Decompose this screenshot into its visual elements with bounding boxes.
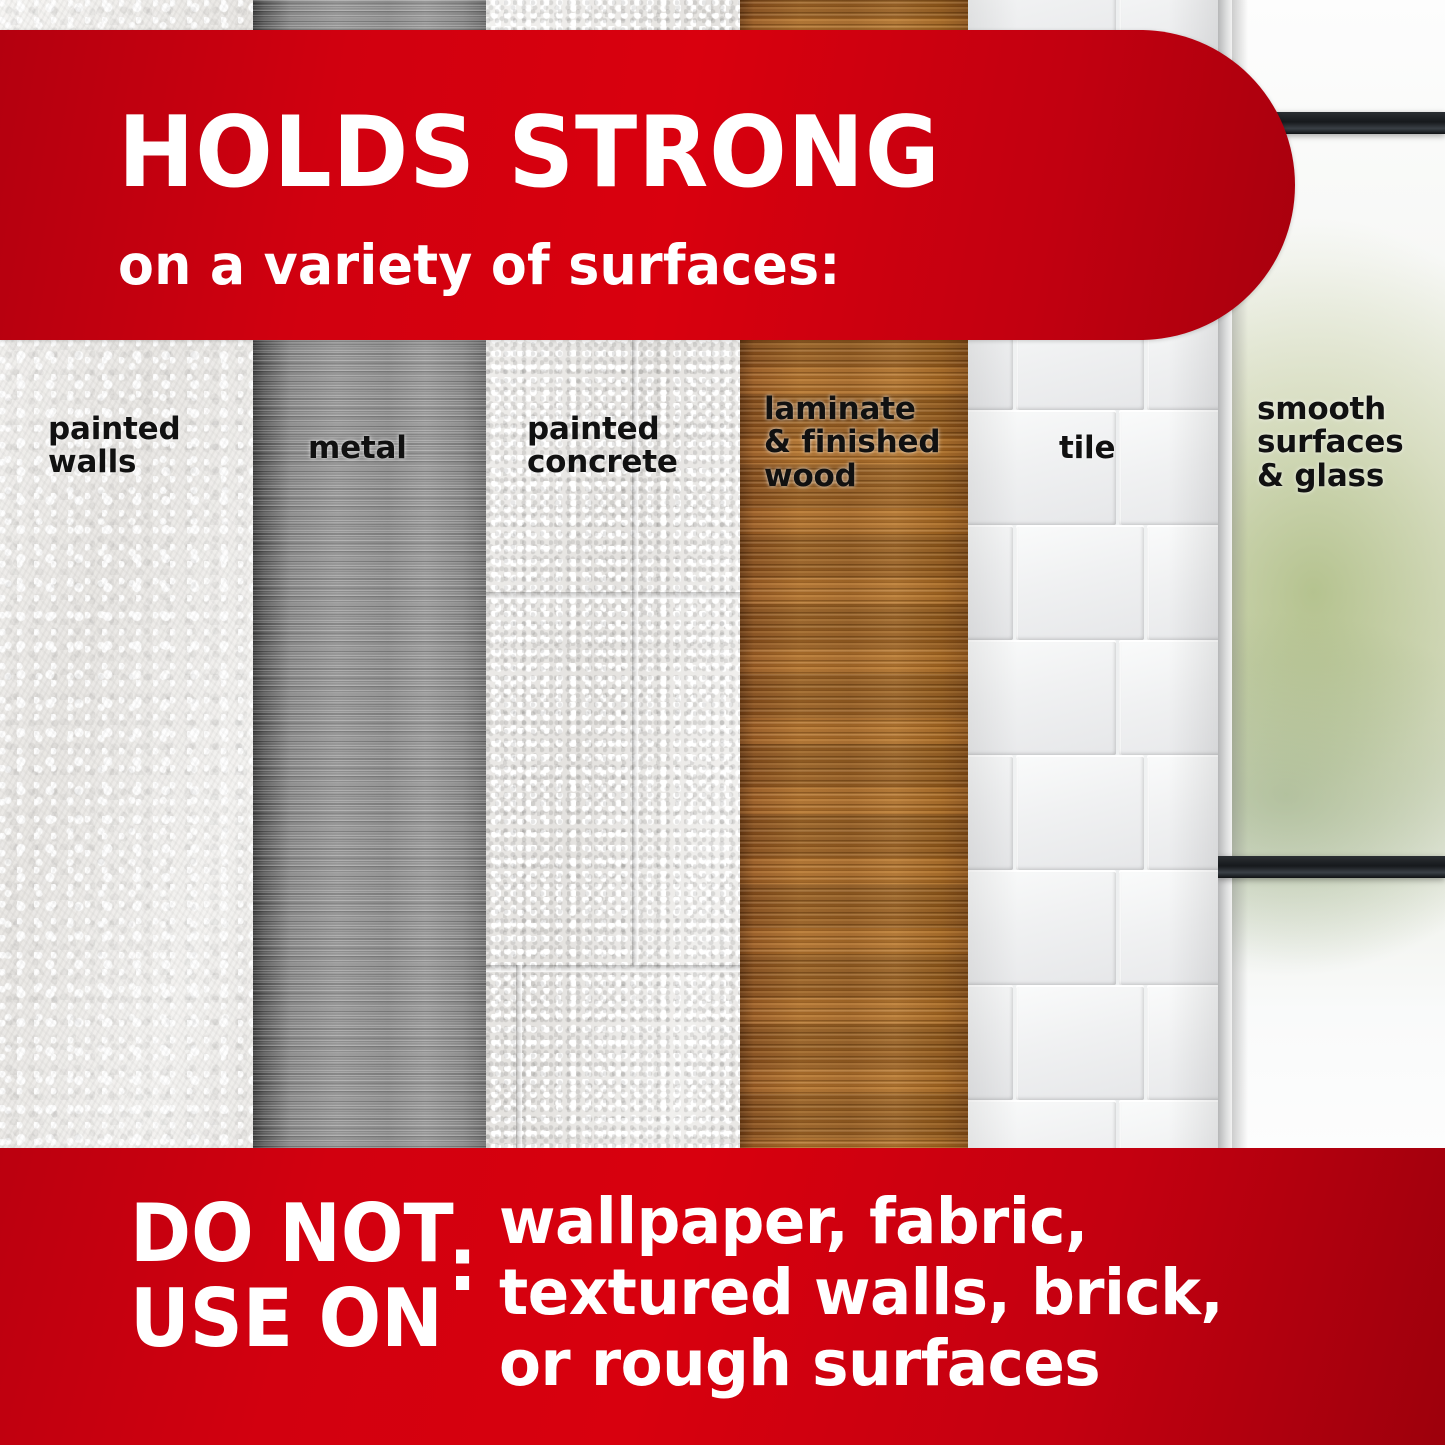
product-feature-graphic: HOLDS STRONG on a variety of surfaces: p…	[0, 0, 1445, 1445]
surface-label-painted-concrete: painted concrete	[527, 413, 678, 480]
do-not-use-items: wallpaper, fabric, textured walls, brick…	[499, 1186, 1223, 1400]
surface-label-painted-walls: painted walls	[48, 413, 180, 480]
subheadline: on a variety of surfaces:	[118, 238, 840, 293]
window-mullion-bottom	[1218, 856, 1445, 878]
surface-label-glass: smooth surfaces & glass	[1257, 393, 1403, 493]
surface-label-tile: tile	[1059, 432, 1115, 465]
surface-label-metal: metal	[308, 432, 407, 465]
do-not-use-content: DO NOT USE ON : wallpaper, fabric, textu…	[130, 1192, 1390, 1400]
surface-label-wood: laminate & finished wood	[764, 393, 940, 493]
holds-strong-banner: HOLDS STRONG on a variety of surfaces:	[0, 30, 1295, 340]
headline: HOLDS STRONG	[118, 106, 941, 200]
do-not-use-label: DO NOT USE ON	[130, 1192, 454, 1362]
